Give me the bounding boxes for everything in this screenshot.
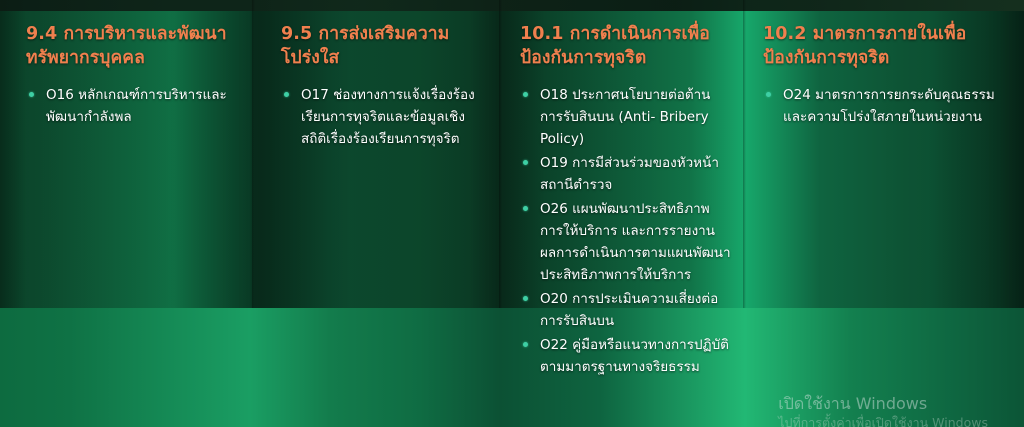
bullet-icon xyxy=(284,92,289,97)
list-item-label: O17 ช่องทางการแจ้งเรื่องร้องเรียนการทุจร… xyxy=(301,87,475,147)
column-title: 10.1 การดำเนินการเพื่อป้องกันการทุจริต xyxy=(520,22,731,70)
bullet-icon xyxy=(766,92,771,97)
list-item: O16 หลักเกณฑ์การบริหารและพัฒนากำลังพล xyxy=(26,84,241,128)
list-item-label: O18 ประกาศนโยบายต่อต้านการรับสินบน (Anti… xyxy=(540,87,710,147)
columns-container: 9.4 การบริหารและพัฒนาทรัพยากรบุคคล O16 ห… xyxy=(0,0,1024,427)
bullet-icon xyxy=(523,206,528,211)
list-item-label: O16 หลักเกณฑ์การบริหารและพัฒนากำลังพล xyxy=(46,87,227,125)
list-item: O22 คู่มือหรือแนวทางการปฏิบัติตามมาตรฐาน… xyxy=(520,334,731,378)
list-item-label: O26 แผนพัฒนาประสิทธิภาพการให้บริการ และก… xyxy=(540,201,731,283)
list-item-label: O22 คู่มือหรือแนวทางการปฏิบัติตามมาตรฐาน… xyxy=(540,337,729,375)
list-item: O18 ประกาศนโยบายต่อต้านการรับสินบน (Anti… xyxy=(520,84,731,150)
column-title: 9.5 การส่งเสริมความโปร่งใส xyxy=(281,22,486,70)
bullet-icon xyxy=(523,160,528,165)
column-item-list: O24 มาตรการการยกระดับคุณธรรมและความโปร่ง… xyxy=(763,84,1010,128)
list-item-label: O20 การประเมินความเสี่ยงต่อการรับสินบน xyxy=(540,291,718,329)
column-10-2: 10.2 มาตรการภายในเพื่อป้องกันการทุจริต O… xyxy=(745,22,1024,427)
bullet-icon xyxy=(523,92,528,97)
column-title: 9.4 การบริหารและพัฒนาทรัพยากรบุคคล xyxy=(26,22,241,70)
list-item-label: O24 มาตรการการยกระดับคุณธรรมและความโปร่ง… xyxy=(783,87,995,125)
list-item: O20 การประเมินความเสี่ยงต่อการรับสินบน xyxy=(520,288,731,332)
list-item: O19 การมีส่วนร่วมของหัวหน้าสถานีตำรวจ xyxy=(520,152,731,196)
bullet-icon xyxy=(523,342,528,347)
bullet-icon xyxy=(523,296,528,301)
column-title: 10.2 มาตรการภายในเพื่อป้องกันการทุจริต xyxy=(763,22,1010,70)
list-item: O24 มาตรการการยกระดับคุณธรรมและความโปร่ง… xyxy=(763,84,1010,128)
presentation-slide: 9.4 การบริหารและพัฒนาทรัพยากรบุคคล O16 ห… xyxy=(0,0,1024,427)
list-item: O17 ช่องทางการแจ้งเรื่องร้องเรียนการทุจร… xyxy=(281,84,486,150)
list-item-label: O19 การมีส่วนร่วมของหัวหน้าสถานีตำรวจ xyxy=(540,155,719,193)
column-item-list: O18 ประกาศนโยบายต่อต้านการรับสินบน (Anti… xyxy=(520,84,731,378)
column-10-1: 10.1 การดำเนินการเพื่อป้องกันการทุจริต O… xyxy=(500,22,745,427)
column-9-5: 9.5 การส่งเสริมความโปร่งใส O17 ช่องทางกา… xyxy=(255,22,500,427)
column-item-list: O16 หลักเกณฑ์การบริหารและพัฒนากำลังพล xyxy=(26,84,241,128)
column-item-list: O17 ช่องทางการแจ้งเรื่องร้องเรียนการทุจร… xyxy=(281,84,486,150)
column-9-4: 9.4 การบริหารและพัฒนาทรัพยากรบุคคล O16 ห… xyxy=(0,22,255,427)
bullet-icon xyxy=(29,92,34,97)
list-item: O26 แผนพัฒนาประสิทธิภาพการให้บริการ และก… xyxy=(520,198,731,286)
